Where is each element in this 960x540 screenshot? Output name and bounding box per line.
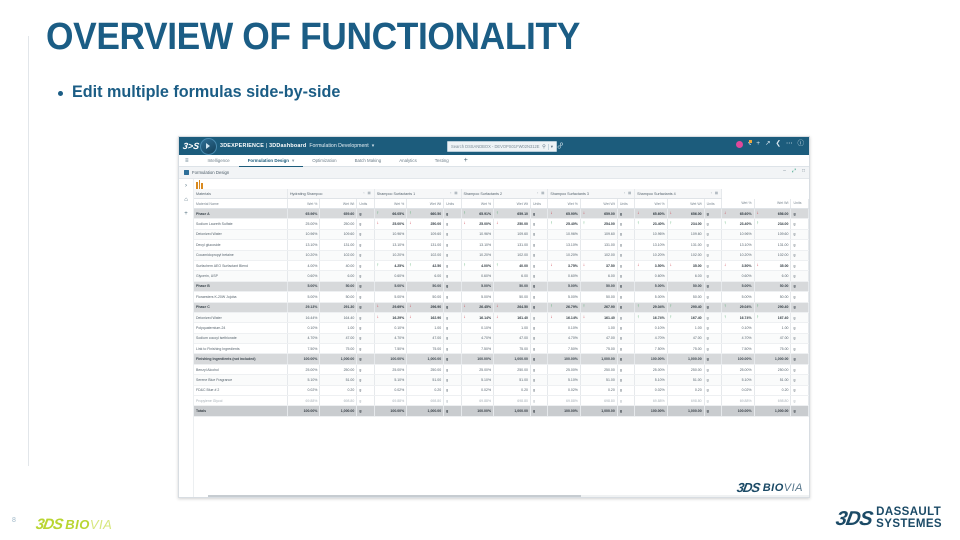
tab-optimization[interactable]: Optimization [303,155,345,166]
units-cell[interactable]: g [704,292,721,302]
wet-pct-cell[interactable]: 5.00% [722,281,755,291]
maximize-icon[interactable]: ⤢ [792,168,796,174]
wet-pct-cell[interactable]: 100.00% [461,406,494,416]
units-cell[interactable]: g [444,209,461,219]
wet-wt-cell[interactable]: 698.80 [407,396,444,406]
wet-pct-cell[interactable]: 0.02% [635,385,668,395]
table-row[interactable]: Phase B5.00%50.00g5.00%50.00g5.00%50.00g… [194,281,809,291]
wet-pct-cell[interactable]: 0.10% [548,323,581,333]
wet-wt-cell[interactable]: 47.00 [320,333,357,343]
units-cell[interactable]: g [704,406,721,416]
units-cell[interactable]: g [617,292,634,302]
wet-wt-cell[interactable]: 102.00 [407,250,444,260]
material-name-cell[interactable]: Serene Blue Fragrance [194,375,287,385]
wet-pct-cell[interactable]: 0.02% [287,385,320,395]
wet-pct-cell[interactable]: 4.70% [635,333,668,343]
wet-pct-cell[interactable]: 100.00% [287,406,320,416]
wet-pct-cell[interactable]: 10.96% [635,229,668,239]
col-wet-wt[interactable]: Wet Wt [494,199,531,209]
material-name-cell[interactable]: Finishing Ingredients (not included) [194,354,287,364]
wet-pct-cell[interactable]: 5.10% [461,375,494,385]
wet-pct-cell[interactable]: 7.50% [374,344,407,354]
wet-wt-cell[interactable]: ↓659.00 [580,209,617,219]
wet-wt-cell[interactable]: ↑660.50 [407,209,444,219]
wet-wt-cell[interactable]: 75.00 [667,344,704,354]
units-cell[interactable]: g [444,323,461,333]
units-cell[interactable]: g [530,250,547,260]
wet-pct-cell[interactable]: 5.00% [635,281,668,291]
wet-pct-cell[interactable]: 4.00% [287,260,320,270]
apps-icon[interactable]: ⋯ [786,141,793,148]
network-icon[interactable]: ❮ [776,141,781,148]
group-tools[interactable]: ‹ ▦ [450,191,458,195]
wet-pct-cell[interactable]: 69.88% [722,396,755,406]
wet-pct-cell[interactable]: 10.20% [548,250,581,260]
wet-wt-cell[interactable]: 109.60 [407,229,444,239]
units-cell[interactable]: g [617,271,634,281]
wet-pct-cell[interactable]: 0.60% [722,271,755,281]
col-wet-wt[interactable]: Wet Wt [407,199,444,209]
wet-wt-cell[interactable]: 102.00 [494,250,531,260]
wet-wt-cell[interactable]: 1,000.00 [667,406,704,416]
wet-pct-cell[interactable]: 13.10% [722,240,755,250]
material-name-cell[interactable]: Floraesters K-20W Jojoba [194,292,287,302]
wet-pct-cell[interactable]: 10.20% [374,250,407,260]
wet-pct-cell[interactable]: 100.00% [635,354,668,364]
table-row[interactable]: Deionized Water16.44%164.40g↓16.29%↓162.… [194,312,809,322]
units-cell[interactable]: g [791,302,809,312]
wet-wt-cell[interactable]: 1,000.00 [580,354,617,364]
wet-pct-cell[interactable]: ↑4.00% [461,260,494,270]
units-cell[interactable]: g [704,240,721,250]
wet-wt-cell[interactable]: ↑267.90 [580,302,617,312]
wet-pct-cell[interactable]: ↑23.40% [635,219,668,229]
col-material-name[interactable]: Material Name [194,199,287,209]
units-cell[interactable]: g [530,323,547,333]
units-cell[interactable]: g [357,323,374,333]
table-row[interactable]: Sodium Laureth Sulfate25.00%250.00g↓25.0… [194,219,809,229]
units-cell[interactable]: g [791,323,809,333]
wet-pct-cell[interactable]: 100.00% [548,406,581,416]
wet-wt-cell[interactable]: 109.60 [754,229,791,239]
units-cell[interactable]: g [791,312,809,322]
wet-wt-cell[interactable]: 102.00 [320,250,357,260]
units-cell[interactable]: g [791,250,809,260]
units-cell[interactable]: g [704,271,721,281]
add-tab-button[interactable]: + [458,156,474,166]
material-name-cell[interactable]: Deionized Water [194,229,287,239]
units-cell[interactable]: g [444,260,461,270]
wet-wt-cell[interactable]: 1,000.00 [407,354,444,364]
wet-pct-cell[interactable]: ↓65.60% [635,209,668,219]
wet-pct-cell[interactable]: ↑65.91% [461,209,494,219]
wet-wt-cell[interactable]: ↑42.50 [407,260,444,270]
group-header-shampoo-surfactants-1[interactable]: Shampoo Surfactants 1 ‹ ▦ [374,189,461,199]
units-cell[interactable]: g [357,302,374,312]
material-name-cell[interactable]: Decyl glucoside [194,240,287,250]
wet-wt-cell[interactable]: ↑290.40 [667,302,704,312]
chevron-down-icon[interactable]: ▾ [292,158,294,163]
units-cell[interactable]: g [444,219,461,229]
wet-wt-cell[interactable]: 6.00 [494,271,531,281]
wet-pct-cell[interactable]: 5.10% [722,375,755,385]
wet-wt-cell[interactable]: ↓35.00 [667,260,704,270]
units-cell[interactable]: g [617,250,634,260]
col-units[interactable]: Units [791,199,809,209]
wet-pct-cell[interactable]: ↓16.14% [461,312,494,322]
wet-pct-cell[interactable]: 7.50% [722,344,755,354]
wet-pct-cell[interactable]: 5.00% [287,281,320,291]
units-cell[interactable]: g [617,302,634,312]
wet-pct-cell[interactable]: 100.00% [635,406,668,416]
wet-pct-cell[interactable]: ↓65.90% [548,209,581,219]
wet-pct-cell[interactable]: ↓3.50% [635,260,668,270]
units-cell[interactable]: g [704,209,721,219]
units-cell[interactable]: g [444,250,461,260]
wet-pct-cell[interactable]: 5.10% [548,375,581,385]
units-cell[interactable]: g [444,292,461,302]
wet-pct-cell[interactable]: 69.88% [548,396,581,406]
wet-pct-cell[interactable]: 5.00% [722,292,755,302]
wet-wt-cell[interactable]: 1,000.00 [667,354,704,364]
wet-pct-cell[interactable]: 100.00% [722,354,755,364]
wet-wt-cell[interactable]: 1,000.00 [754,354,791,364]
wet-wt-cell[interactable]: 47.00 [667,333,704,343]
wet-pct-cell[interactable]: 10.96% [374,229,407,239]
wet-pct-cell[interactable]: 10.20% [635,250,668,260]
group-header-shampoo-surfactants-2[interactable]: Shampoo Surfactants 2 ‹ ▦ [461,189,548,199]
wet-wt-cell[interactable]: 250.00 [580,364,617,374]
wet-pct-cell[interactable]: ↑29.04% [722,302,755,312]
group-tools[interactable]: ‹ ▦ [711,191,719,195]
formulation-table[interactable]: Materials Hydrating Shampoo ‹ ▦ Shampoo … [194,189,809,417]
wet-wt-cell[interactable]: 75.00 [320,344,357,354]
wet-wt-cell[interactable]: ↓656.00 [754,209,791,219]
units-cell[interactable]: g [704,385,721,395]
material-name-cell[interactable]: Benzyl Alcohol [194,364,287,374]
wet-wt-cell[interactable]: 1.00 [494,323,531,333]
wet-pct-cell[interactable]: 5.10% [374,375,407,385]
wet-wt-cell[interactable]: ↑167.40 [667,312,704,322]
wet-wt-cell[interactable]: ↑290.40 [754,302,791,312]
wet-pct-cell[interactable]: 5.00% [548,281,581,291]
wet-pct-cell[interactable]: 5.00% [374,281,407,291]
wet-wt-cell[interactable]: 51.00 [580,375,617,385]
wet-pct-cell[interactable]: 25.00% [722,364,755,374]
wet-pct-cell[interactable]: 29.13% [287,302,320,312]
wet-wt-cell[interactable]: 75.00 [494,344,531,354]
units-cell[interactable]: g [444,354,461,364]
wet-wt-cell[interactable]: 698.80 [667,396,704,406]
wet-pct-cell[interactable]: 0.60% [635,271,668,281]
wet-wt-cell[interactable]: 0.20 [407,385,444,395]
hamburger-icon[interactable]: ≡ [185,158,189,164]
table-row[interactable]: Sodium cocoyl isethionate4.70%47.00g4.70… [194,333,809,343]
wet-pct-cell[interactable]: 0.02% [548,385,581,395]
units-cell[interactable]: g [530,364,547,374]
wet-wt-cell[interactable]: 51.00 [320,375,357,385]
material-name-cell[interactable]: Phase A [194,209,287,219]
chevron-down-icon[interactable]: ▾ [372,143,375,149]
wet-pct-cell[interactable]: 100.00% [461,354,494,364]
units-cell[interactable]: g [704,364,721,374]
share-icon[interactable]: ↗ [765,141,770,148]
wet-pct-cell[interactable]: 69.88% [461,396,494,406]
wet-wt-cell[interactable]: 1,000.00 [320,406,357,416]
wet-wt-cell[interactable]: 250.00 [667,364,704,374]
col-units[interactable]: Units [444,199,461,209]
wet-pct-cell[interactable]: ↑16.74% [635,312,668,322]
material-name-cell[interactable]: Link to Finishing Ingredients [194,344,287,354]
wet-wt-cell[interactable]: 6.00 [320,271,357,281]
wet-pct-cell[interactable]: 13.10% [461,240,494,250]
units-cell[interactable]: g [791,219,809,229]
wet-wt-cell[interactable]: 75.00 [407,344,444,354]
units-cell[interactable]: g [444,281,461,291]
units-cell[interactable]: g [704,250,721,260]
units-cell[interactable]: g [444,344,461,354]
wet-pct-cell[interactable]: 65.96% [287,209,320,219]
wet-wt-cell[interactable]: ↑40.00 [494,260,531,270]
wet-pct-cell[interactable]: 100.00% [722,406,755,416]
wet-pct-cell[interactable]: ↓65.60% [722,209,755,219]
wet-wt-cell[interactable]: 250.00 [320,364,357,374]
table-row[interactable]: Deionized Water10.96%109.60g10.96%109.60… [194,229,809,239]
wet-pct-cell[interactable]: 7.50% [548,344,581,354]
units-cell[interactable]: g [530,375,547,385]
units-cell[interactable]: g [617,364,634,374]
wet-pct-cell[interactable]: 100.00% [374,354,407,364]
units-cell[interactable]: g [444,271,461,281]
units-cell[interactable]: g [357,375,374,385]
wet-wt-cell[interactable]: 6.00 [580,271,617,281]
wet-wt-cell[interactable]: 250.00 [494,364,531,374]
units-cell[interactable]: g [617,229,634,239]
wet-wt-cell[interactable]: 47.00 [407,333,444,343]
units-cell[interactable]: g [704,333,721,343]
units-cell[interactable]: g [530,260,547,270]
col-wet-pct[interactable]: Wet % [287,199,320,209]
wet-wt-cell[interactable]: 0.20 [580,385,617,395]
wet-wt-cell[interactable]: 659.60 [320,209,357,219]
wet-wt-cell[interactable]: ↑234.00 [667,219,704,229]
wet-wt-cell[interactable]: ↑659.10 [494,209,531,219]
units-cell[interactable]: g [617,385,634,395]
units-cell[interactable]: g [444,375,461,385]
wet-wt-cell[interactable]: 1,000.00 [580,406,617,416]
col-wet-pct[interactable]: Wet % [461,199,494,209]
wet-wt-cell[interactable]: ↓37.50 [580,260,617,270]
table-row[interactable]: Floraesters K-20W Jojoba5.00%50.00g5.00%… [194,292,809,302]
units-cell[interactable]: g [357,229,374,239]
units-cell[interactable]: g [617,354,634,364]
units-cell[interactable]: g [530,281,547,291]
compass-icon[interactable] [200,138,217,155]
wet-wt-cell[interactable]: 50.00 [494,292,531,302]
wet-wt-cell[interactable]: 131.00 [320,240,357,250]
material-name-cell[interactable]: Cocamidopropyl betaine [194,250,287,260]
tab-intelligence[interactable]: Intelligence [199,155,239,166]
units-cell[interactable]: g [791,354,809,364]
group-header-shampoo-surfactants-4[interactable]: Shampoo Surfactants 4 ‹ ▦ [635,189,722,199]
wet-pct-cell[interactable]: ↓26.45% [461,302,494,312]
wet-wt-cell[interactable]: ↑254.00 [580,219,617,229]
units-cell[interactable]: g [704,375,721,385]
material-name-cell[interactable]: Glycerin, USP [194,271,287,281]
search-dropdown-chevron-down-icon[interactable]: ▾ [548,144,553,150]
wet-pct-cell[interactable]: 0.10% [374,323,407,333]
wet-pct-cell[interactable]: ↑23.40% [722,219,755,229]
wet-wt-cell[interactable]: 698.80 [320,396,357,406]
wet-wt-cell[interactable]: 1.00 [580,323,617,333]
wet-wt-cell[interactable]: ↓656.00 [667,209,704,219]
close-icon[interactable]: □ [802,168,805,174]
wet-pct-cell[interactable]: ↑26.79% [548,302,581,312]
units-cell[interactable]: g [617,375,634,385]
wet-pct-cell[interactable]: ↓25.00% [374,219,407,229]
units-cell[interactable]: g [704,312,721,322]
wet-wt-cell[interactable]: 0.20 [754,385,791,395]
wet-wt-cell[interactable]: 250.00 [754,364,791,374]
wet-wt-cell[interactable]: ↓264.50 [494,302,531,312]
wet-wt-cell[interactable]: 131.00 [494,240,531,250]
wet-wt-cell[interactable]: 250.00 [320,219,357,229]
wet-wt-cell[interactable]: 291.30 [320,302,357,312]
units-cell[interactable]: g [357,354,374,364]
wet-pct-cell[interactable]: 25.00% [635,364,668,374]
units-cell[interactable]: g [791,292,809,302]
table-row[interactable]: FD&C Blue # 20.02%0.20g0.02%0.20g0.02%0.… [194,385,809,395]
units-cell[interactable]: g [357,333,374,343]
col-units[interactable]: Units [704,199,721,209]
table-row[interactable]: Decyl glucoside13.10%131.00g13.10%131.00… [194,240,809,250]
wet-wt-cell[interactable]: 50.00 [754,281,791,291]
wet-pct-cell[interactable]: 16.44% [287,312,320,322]
wet-wt-cell[interactable]: 109.60 [494,229,531,239]
wet-wt-cell[interactable]: ↓161.40 [494,312,531,322]
wet-pct-cell[interactable]: 4.70% [461,333,494,343]
wet-wt-cell[interactable]: 1,000.00 [494,354,531,364]
col-wet-pct[interactable]: Wet % [374,199,407,209]
wet-pct-cell[interactable]: ↓16.29% [374,312,407,322]
wet-pct-cell[interactable]: ↓25.00% [461,219,494,229]
wet-pct-cell[interactable]: 0.60% [287,271,320,281]
wet-pct-cell[interactable]: 5.00% [287,292,320,302]
wet-wt-cell[interactable]: ↑167.40 [754,312,791,322]
units-cell[interactable]: g [617,209,634,219]
wet-pct-cell[interactable]: 5.00% [461,281,494,291]
wet-wt-cell[interactable]: 6.00 [407,271,444,281]
wet-wt-cell[interactable]: 51.00 [494,375,531,385]
units-cell[interactable]: g [617,406,634,416]
units-cell[interactable]: g [530,312,547,322]
wet-wt-cell[interactable]: 109.60 [580,229,617,239]
material-name-cell[interactable]: Sodium Laureth Sulfate [194,219,287,229]
wet-pct-cell[interactable]: ↑66.05% [374,209,407,219]
units-cell[interactable]: g [617,344,634,354]
units-cell[interactable]: g [530,271,547,281]
wet-pct-cell[interactable]: 0.02% [461,385,494,395]
units-cell[interactable]: g [530,292,547,302]
help-icon[interactable]: ⓘ [798,141,805,148]
wet-pct-cell[interactable]: 5.00% [548,292,581,302]
wet-pct-cell[interactable]: 0.10% [635,323,668,333]
wet-pct-cell[interactable]: 5.00% [374,292,407,302]
units-cell[interactable]: g [357,385,374,395]
col-units[interactable]: Units [530,199,547,209]
col-units[interactable]: Units [357,199,374,209]
units-cell[interactable]: g [617,333,634,343]
units-cell[interactable]: g [704,229,721,239]
wet-pct-cell[interactable]: 5.00% [635,292,668,302]
units-cell[interactable]: g [357,312,374,322]
units-cell[interactable]: g [704,354,721,364]
material-name-cell[interactable]: Polyquaternium-24 [194,323,287,333]
units-cell[interactable]: g [357,271,374,281]
wet-pct-cell[interactable]: ↑16.74% [722,312,755,322]
wet-wt-cell[interactable]: 50.00 [407,281,444,291]
wet-wt-cell[interactable]: 75.00 [580,344,617,354]
units-cell[interactable]: g [617,396,634,406]
col-wet-pct[interactable]: Wet % [635,199,668,209]
wet-pct-cell[interactable]: 10.96% [548,229,581,239]
wet-wt-cell[interactable]: 50.00 [580,292,617,302]
units-cell[interactable]: g [791,229,809,239]
col-wet-wt[interactable]: Wet Wt [667,199,704,209]
table-row[interactable]: Serene Blue Fragrance5.10%51.00g5.10%51.… [194,375,809,385]
wet-pct-cell[interactable]: 13.10% [635,240,668,250]
wet-wt-cell[interactable]: ↓161.40 [580,312,617,322]
wet-pct-cell[interactable]: 10.96% [461,229,494,239]
table-row[interactable]: Phase A65.96%659.60g↑66.05%↑660.50g↑65.9… [194,209,809,219]
units-cell[interactable]: g [530,396,547,406]
wet-wt-cell[interactable]: 109.60 [320,229,357,239]
col-wet-wt[interactable]: Wet Wt [754,199,791,209]
wet-wt-cell[interactable]: 698.80 [580,396,617,406]
units-cell[interactable]: g [357,406,374,416]
wet-wt-cell[interactable]: ↓250.00 [494,219,531,229]
wet-pct-cell[interactable]: 7.50% [287,344,320,354]
search-icon[interactable]: ⚲ [542,144,546,150]
wet-wt-cell[interactable]: 50.00 [667,292,704,302]
minimize-icon[interactable]: – [783,168,786,174]
wet-pct-cell[interactable]: 100.00% [287,354,320,364]
wet-pct-cell[interactable]: 4.70% [548,333,581,343]
wet-pct-cell[interactable]: 0.02% [374,385,407,395]
units-cell[interactable]: g [444,302,461,312]
wet-wt-cell[interactable]: 40.00 [320,260,357,270]
wet-wt-cell[interactable]: 109.60 [667,229,704,239]
units-cell[interactable]: g [357,219,374,229]
wet-wt-cell[interactable]: 1.00 [667,323,704,333]
group-tools[interactable]: ‹ ▦ [363,191,371,195]
wet-wt-cell[interactable]: 6.00 [754,271,791,281]
wet-pct-cell[interactable]: 10.96% [722,229,755,239]
material-name-cell[interactable]: Deionized Water [194,312,287,322]
wet-wt-cell[interactable]: 0.20 [320,385,357,395]
units-cell[interactable]: g [791,396,809,406]
wet-pct-cell[interactable]: 0.60% [548,271,581,281]
wet-wt-cell[interactable]: 1.00 [754,323,791,333]
units-cell[interactable]: g [617,240,634,250]
wet-pct-cell[interactable]: 4.70% [287,333,320,343]
material-name-cell[interactable]: FD&C Blue # 2 [194,385,287,395]
units-cell[interactable]: g [357,364,374,374]
units-cell[interactable]: g [704,302,721,312]
wet-wt-cell[interactable]: 6.00 [667,271,704,281]
wet-pct-cell[interactable]: ↑4.25% [374,260,407,270]
wet-pct-cell[interactable]: 5.00% [461,292,494,302]
